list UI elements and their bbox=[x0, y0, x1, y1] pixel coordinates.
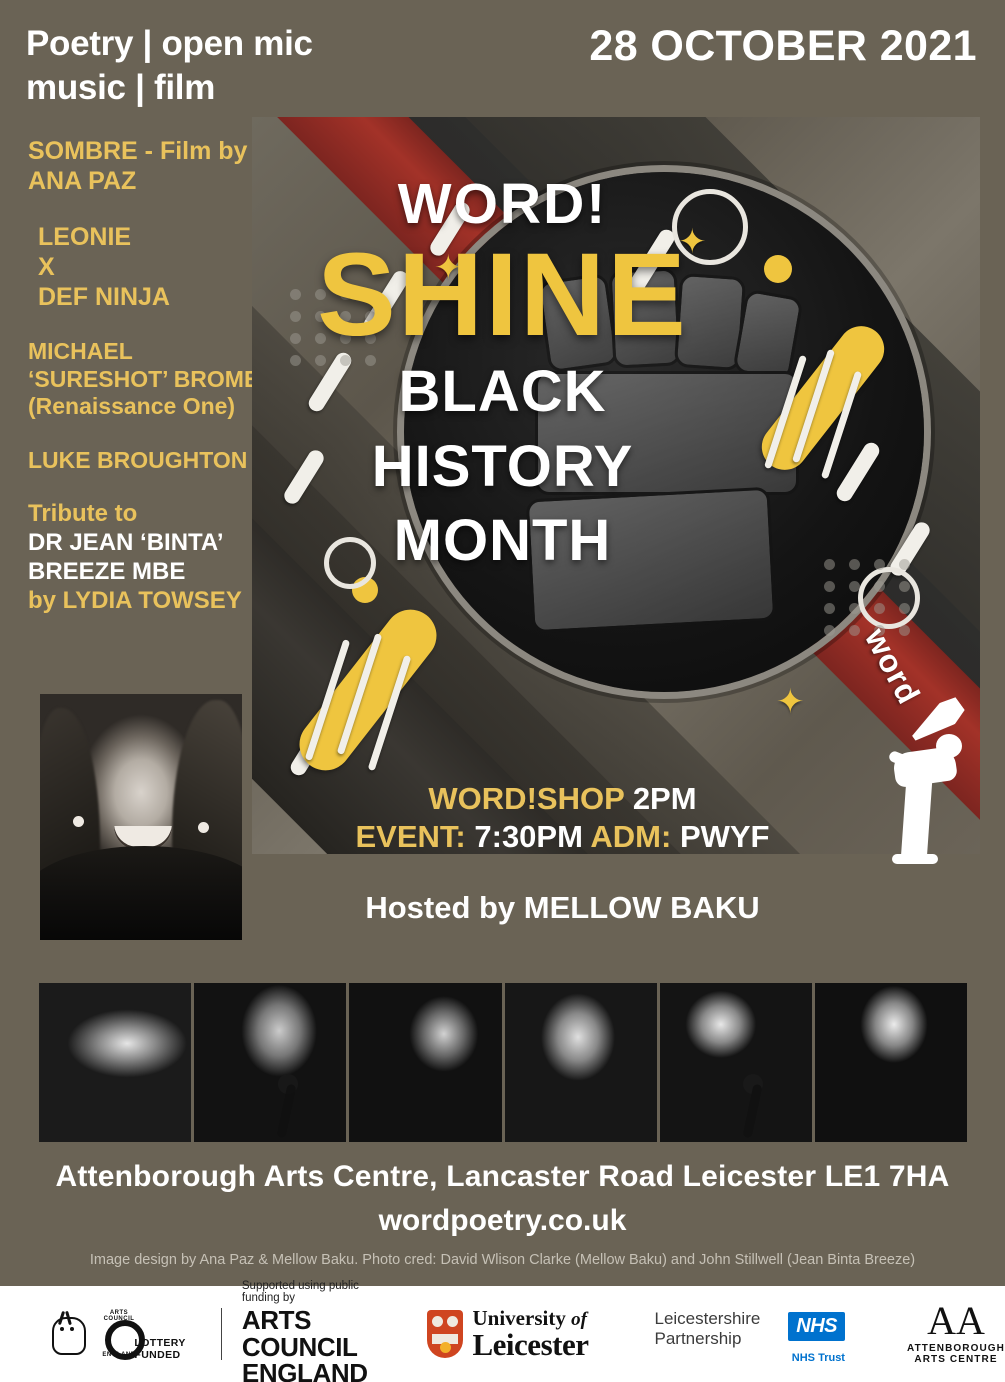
performer-photo bbox=[505, 983, 657, 1142]
title-black: BLACK bbox=[0, 355, 1005, 429]
crossed-fingers-icon bbox=[48, 1311, 88, 1357]
admission-value: PWYF bbox=[680, 819, 770, 854]
university-word: University of bbox=[473, 1308, 589, 1329]
performer-photo-strip bbox=[39, 983, 967, 1142]
website-link[interactable]: wordpoetry.co.uk bbox=[0, 1204, 1005, 1238]
nhs-partnership-text: Leicestershire Partnership bbox=[654, 1305, 780, 1349]
earring-right bbox=[198, 822, 209, 833]
ring-text-bottom: ENGLAND bbox=[96, 1352, 142, 1358]
workshop-line: WORD!SHOP 2PM bbox=[250, 780, 875, 818]
leicester-word: Leicester bbox=[473, 1329, 589, 1360]
university-of-leicester-logo: University of Leicester bbox=[427, 1308, 589, 1360]
sponsor-logo-bar: ARTS COUNCIL ENGLAND LOTTERY FUNDED Supp… bbox=[0, 1286, 1005, 1382]
poster-title: WORD! SHINE BLACK HISTORY MONTH bbox=[0, 176, 1005, 578]
performer-photo bbox=[660, 983, 812, 1142]
leicester-shield-icon bbox=[427, 1310, 463, 1358]
performer-photo bbox=[349, 983, 501, 1142]
nhs-mark-icon: NHS bbox=[788, 1312, 845, 1341]
image-credit: Image design by Ana Paz & Mellow Baku. P… bbox=[0, 1252, 1005, 1268]
arts-council-supported-text: Supported using public funding by bbox=[242, 1281, 369, 1304]
tagline-line-1: Poetry | open mic bbox=[26, 22, 426, 66]
tagline-line-2: music | film bbox=[26, 66, 426, 110]
aac-name-line2: ARTS CENTRE bbox=[907, 1354, 1005, 1365]
tagline: Poetry | open mic music | film bbox=[26, 22, 426, 110]
performer-photo bbox=[815, 983, 967, 1142]
title-shine: SHINE bbox=[0, 235, 1005, 355]
arts-council-name-line1: ARTS COUNCIL bbox=[242, 1307, 369, 1360]
aac-name-line1: ATTENBOROUGH bbox=[907, 1343, 1005, 1354]
divider bbox=[221, 1308, 222, 1360]
event-timings: WORD!SHOP 2PM EVENT: 7:30PM ADM: PWYF bbox=[250, 780, 875, 856]
attenborough-arts-centre-logo: AA ATTENBOROUGH ARTS CENTRE bbox=[907, 1303, 1005, 1365]
performer-photo bbox=[39, 983, 191, 1142]
performer-photo bbox=[194, 983, 346, 1142]
admission-label: ADM: bbox=[590, 819, 671, 854]
title-history: HISTORY bbox=[0, 430, 1005, 504]
arts-council-ring-icon: ARTS COUNCIL ENGLAND bbox=[96, 1311, 126, 1357]
nhs-trust-text: NHS Trust bbox=[654, 1352, 845, 1364]
poster: Poetry | open mic music | film 28 OCTOBE… bbox=[0, 0, 1005, 1382]
venue-address: Attenborough Arts Centre, Lancaster Road… bbox=[0, 1160, 1005, 1194]
event-label: EVENT: bbox=[356, 819, 466, 854]
event-time: 7:30PM bbox=[474, 819, 583, 854]
arts-council-logo: ARTS COUNCIL ENGLAND LOTTERY FUNDED Supp… bbox=[48, 1281, 369, 1382]
event-line: EVENT: 7:30PM ADM: PWYF bbox=[250, 818, 875, 856]
star-icon: ✦ bbox=[776, 685, 805, 719]
workshop-time: 2PM bbox=[633, 781, 697, 816]
portrait-coat bbox=[40, 846, 242, 940]
host-line: Hosted by MELLOW BAKU bbox=[250, 890, 875, 926]
earring-left bbox=[73, 816, 84, 827]
title-word: WORD! bbox=[0, 176, 1005, 233]
megaphone-figure-icon bbox=[880, 672, 976, 872]
nhs-partnership-logo: Leicestershire Partnership NHS NHS Trust bbox=[654, 1305, 845, 1364]
aac-monogram-icon: AA bbox=[907, 1303, 1005, 1339]
event-date: 28 OCTOBER 2021 bbox=[589, 22, 977, 71]
title-month: MONTH bbox=[0, 504, 1005, 578]
portrait-jean-binta-breeze bbox=[40, 694, 242, 940]
workshop-label: WORD!SHOP bbox=[428, 781, 624, 816]
arts-council-name-line2: ENGLAND bbox=[242, 1360, 369, 1382]
